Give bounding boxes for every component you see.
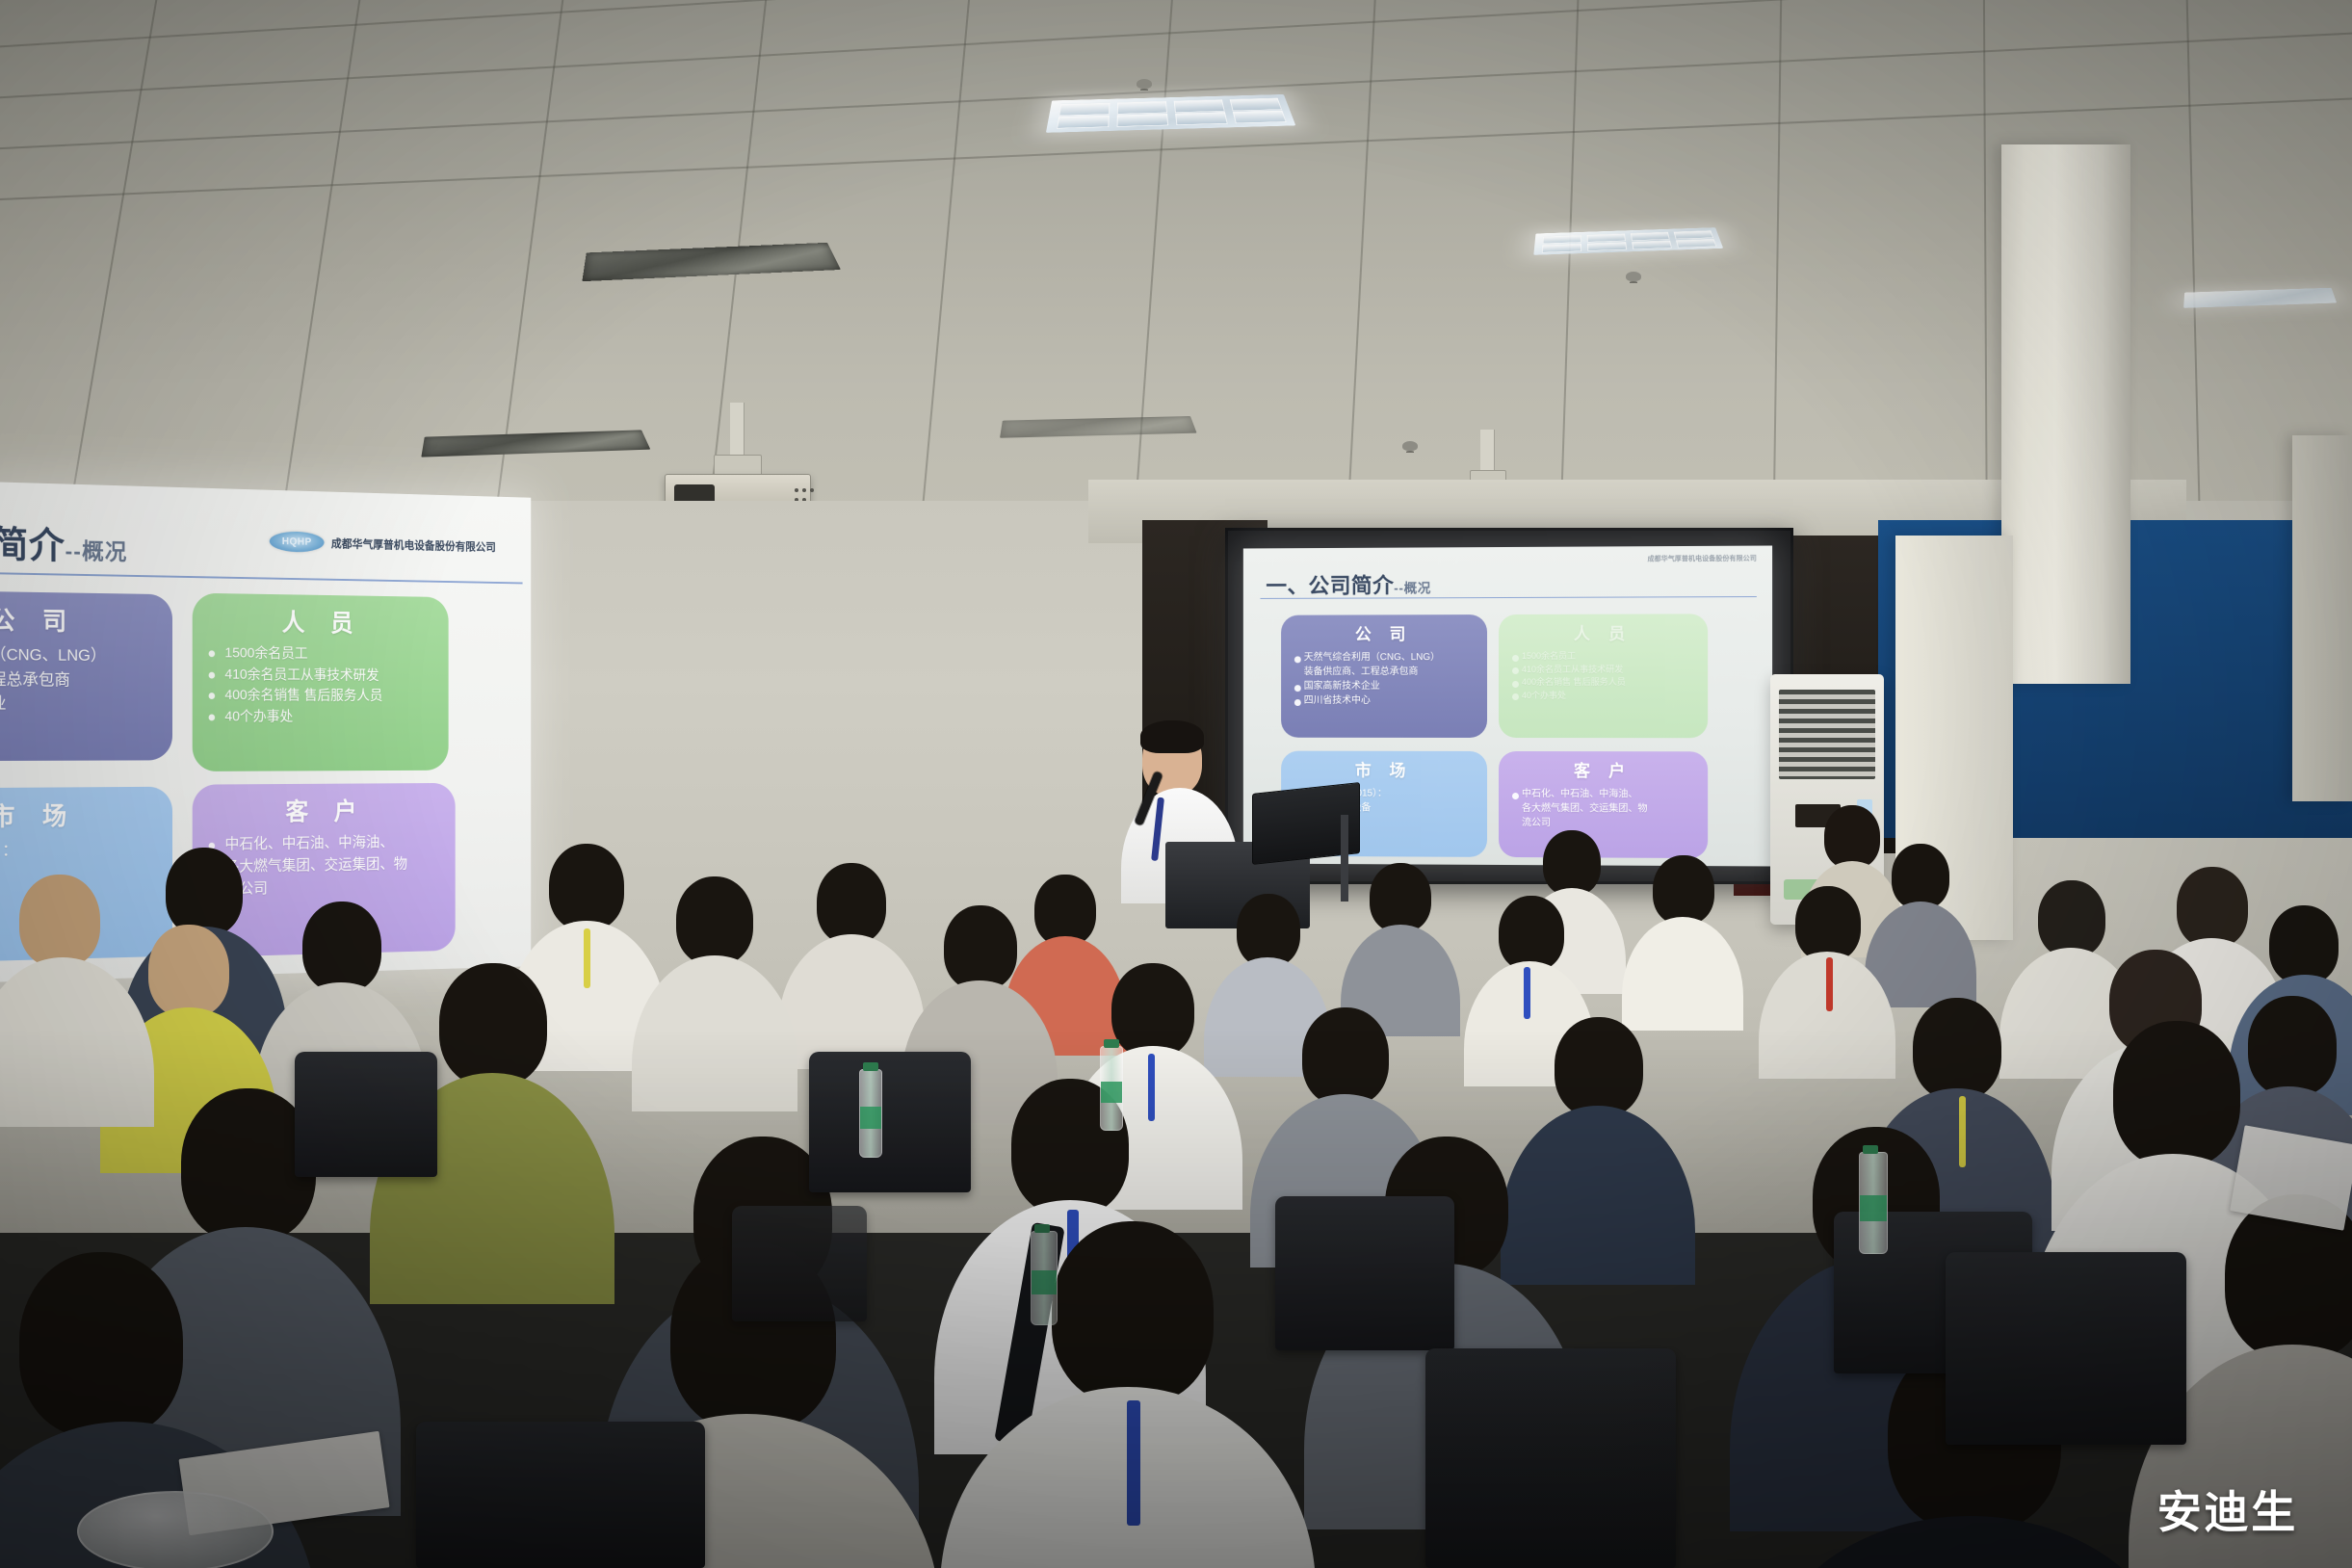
lanyard <box>1826 957 1833 1011</box>
company-name-label: 成都华气厚普机电设备股份有限公司 <box>331 535 496 554</box>
audience-member <box>1630 855 1736 1009</box>
left-slide-title: 简介--概况 <box>0 514 128 570</box>
left-panel-company-bullet: 技术中心 <box>0 716 160 741</box>
torso <box>632 955 797 1111</box>
presenter-hair <box>1140 720 1204 753</box>
head <box>302 902 381 992</box>
head <box>1543 830 1601 896</box>
left-panel-client-heading: 客 户 <box>205 792 443 828</box>
head <box>19 875 100 967</box>
head <box>1555 1017 1643 1117</box>
left-panel-staff-bullet: 410余名员工从事技术研发 <box>205 664 436 686</box>
head <box>19 1252 183 1437</box>
chair-back <box>732 1206 867 1321</box>
bottle-label <box>860 1107 881 1129</box>
main-panel-company-bullet: 国家高新技术企业 <box>1291 679 1477 693</box>
wall-return-far-right <box>2292 435 2352 801</box>
head <box>1237 894 1300 967</box>
watermark: 安迪生 <box>2157 1477 2298 1541</box>
head <box>1913 998 2001 1100</box>
left-panel-market-heading: 市 场 <box>0 797 160 834</box>
main-panel-staff-bullet: 1500余名员工 <box>1508 650 1698 664</box>
main-panel-client-bullet: 中石化、中石油、中海油、 <box>1508 787 1698 802</box>
laptop-stand-post <box>1341 815 1348 902</box>
head <box>1052 1221 1214 1404</box>
left-panel-company-bullet: 应商、工程总承包商 <box>0 666 160 693</box>
main-panel-staff-bullet: 410余名员工从事技术研发 <box>1508 663 1698 676</box>
ceiling-tile-grid <box>0 0 2352 539</box>
left-panel-staff-bullet: 40个办事处 <box>205 706 436 727</box>
structural-pillar <box>2001 144 2130 684</box>
water-bottle <box>1031 1231 1058 1325</box>
head <box>1302 1007 1389 1106</box>
left-panel-company-bullet: 综合利用（CNG、LNG） <box>0 641 160 668</box>
left-slide-title-rule <box>0 572 523 584</box>
left-panel-company-heading: 公 司 <box>0 600 160 639</box>
suspended-ceiling <box>0 0 2352 539</box>
left-panel-staff-bullet: 400余名销售 售后服务人员 <box>205 685 436 707</box>
head <box>1034 875 1096 946</box>
head <box>817 863 886 944</box>
main-panel-company-bullet: 四川省技术中心 <box>1291 693 1477 708</box>
bottle-cap <box>863 1062 878 1071</box>
head <box>1111 963 1194 1058</box>
bottle-cap <box>1034 1224 1050 1233</box>
left-panel-staff-heading: 人 员 <box>205 603 436 640</box>
head <box>2113 1021 2240 1167</box>
audience-member <box>1770 886 1884 1059</box>
left-panel-staff-bullet: 1500余名员工 <box>205 642 436 666</box>
main-panel-market-heading: 市 场 <box>1291 757 1477 781</box>
main-panel-staff: 人 员 1500余名员工 410余名员工从事技术研发 400余名销售 售后服务人… <box>1499 614 1708 738</box>
left-slide-brand: HQHP 成都华气厚普机电设备股份有限公司 <box>270 531 496 556</box>
head <box>549 844 624 930</box>
head <box>1892 844 1949 909</box>
main-panel-staff-bullet: 400余名销售 售后服务人员 <box>1508 676 1698 690</box>
lanyard <box>1524 967 1530 1019</box>
torso <box>1763 1516 2177 1568</box>
chair-back <box>1425 1348 1676 1568</box>
left-panel-staff: 人 员 1500余名员工 410余名员工从事技术研发 400余名销售 售后服务人… <box>193 593 449 771</box>
bottle-label <box>1860 1195 1887 1221</box>
chair-back <box>809 1052 971 1192</box>
main-panel-staff-bullet: 40个办事处 <box>1508 689 1698 702</box>
ac-grille <box>1779 690 1874 780</box>
sprinkler-head-2 <box>1626 272 1641 281</box>
main-panel-company-bullet: 装备供应商、工程总承包商 <box>1291 665 1477 679</box>
main-panel-company: 公 司 天然气综合利用（CNG、LNG） 装备供应商、工程总承包商 国家高新技术… <box>1281 614 1487 738</box>
main-panel-client-bullet: 各大燃气集团、交运集团、物 <box>1508 801 1698 817</box>
round-glass-table <box>77 1491 274 1568</box>
main-slide-brand: 成都华气厚普机电设备股份有限公司 <box>1648 554 1757 564</box>
main-slide-title: 一、公司简介--概况 <box>1266 568 1431 600</box>
torso <box>778 934 925 1069</box>
bottle-label <box>1032 1270 1057 1294</box>
bottle-cap <box>1863 1145 1878 1154</box>
chair-back <box>1275 1196 1454 1350</box>
main-panel-company-bullet: 天然气综合利用（CNG、LNG） <box>1291 650 1477 665</box>
torso <box>1622 917 1743 1031</box>
head <box>944 905 1017 990</box>
audience-member <box>1872 844 1969 988</box>
bottle-label <box>1101 1082 1122 1103</box>
bottle-cap <box>1104 1039 1119 1048</box>
water-bottle <box>1100 1046 1123 1131</box>
water-bottle <box>1859 1152 1888 1254</box>
audience-member <box>0 875 144 1106</box>
head <box>1795 886 1861 961</box>
head <box>1499 896 1564 971</box>
left-panel-company-bullet: 新技术企业 <box>0 692 160 717</box>
lanyard <box>1127 1400 1140 1526</box>
main-panel-client-heading: 客 户 <box>1508 757 1698 782</box>
main-panel-staff-heading: 人 员 <box>1508 619 1698 644</box>
head <box>148 925 229 1017</box>
chair-back <box>416 1422 705 1568</box>
head <box>676 876 753 965</box>
left-panel-company: 公 司 综合利用（CNG、LNG） 应商、工程总承包商 新技术企业 技术中心 <box>0 589 172 761</box>
conference-room-photo: 简介--概况 HQHP 成都华气厚普机电设备股份有限公司 公 司 综合利用（CN… <box>0 0 2352 1568</box>
sprinkler-head-1 <box>1137 79 1152 89</box>
head <box>1370 863 1431 932</box>
head <box>439 963 547 1086</box>
water-bottle <box>859 1069 882 1158</box>
head <box>2177 867 2248 948</box>
audience-member <box>1348 863 1452 1017</box>
head <box>1653 855 1714 925</box>
main-panel-company-heading: 公 司 <box>1291 620 1477 644</box>
company-name-label: 成都华气厚普机电设备股份有限公司 <box>1648 554 1757 564</box>
audience-member <box>790 863 911 1054</box>
hqhp-logo: HQHP <box>270 531 325 553</box>
audience-member <box>645 876 780 1092</box>
head <box>2269 905 2339 984</box>
audience-member-front <box>982 1221 1271 1568</box>
main-panel-client-bullet: 流公司 <box>1508 816 1698 831</box>
projector-vent <box>795 488 798 492</box>
head <box>2038 880 2105 957</box>
sprinkler-head-3 <box>1402 441 1418 451</box>
chair-back <box>1946 1252 2186 1445</box>
chair-back <box>295 1052 437 1177</box>
head <box>166 848 243 936</box>
